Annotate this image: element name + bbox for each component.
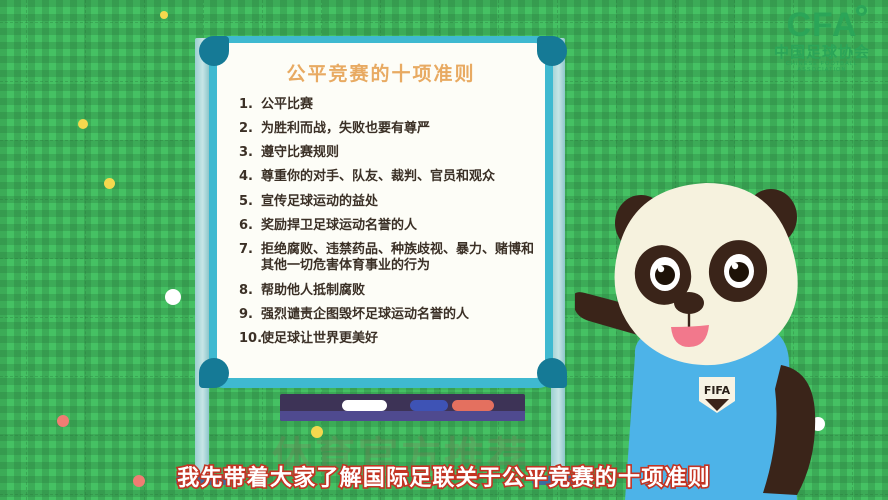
- list-item-label: 拒绝腐败、违禁药品、种族歧视、暴力、赌博和其他一切危害体育事业的行为: [261, 242, 545, 275]
- list-item-label: 为胜利而战，失败也要有尊严: [261, 121, 545, 138]
- decorative-dot: [104, 178, 115, 189]
- easel-leg-right: [551, 38, 565, 478]
- grid-line-horizontal: [0, 22, 888, 23]
- board-knob-bottom-left: [199, 358, 229, 388]
- decorative-dot: [165, 289, 181, 305]
- list-item-number: 7.: [239, 242, 261, 275]
- list-item: 8.帮助他人抵制腐败: [239, 283, 545, 300]
- marker-red: [452, 400, 494, 411]
- board-knob-bottom-right: [537, 358, 567, 388]
- whiteboard-surface: 公平竞赛的十项准则 1.公平比赛2.为胜利而战，失败也要有尊严3.遵守比赛规则4…: [217, 43, 545, 378]
- list-item-label: 公平比赛: [261, 97, 545, 114]
- list-item-label: 尊重你的对手、队友、裁判、官员和观众: [261, 169, 545, 186]
- grid-line-vertical: [144, 0, 145, 500]
- cfa-english-name: CHINESE FOOTBALL ASSOCIATION: [768, 62, 876, 73]
- video-frame: CFA 中国足球协会 CHINESE FOOTBALL ASSOCIATION …: [0, 0, 888, 500]
- marker-blue: [410, 400, 448, 411]
- list-item-label: 使足球让世界更美好: [261, 331, 545, 348]
- list-item-number: 8.: [239, 283, 261, 300]
- list-item-label: 奖励捍卫足球运动名誉的人: [261, 218, 545, 235]
- list-item-number: 2.: [239, 121, 261, 138]
- list-item: 7.拒绝腐败、违禁药品、种族歧视、暴力、赌博和其他一切危害体育事业的行为: [239, 242, 545, 275]
- subtitle-caption: 我先带着大家了解国际足联关于公平竞赛的十项准则: [0, 460, 888, 492]
- marker-white: [342, 400, 387, 411]
- list-item-number: 10.: [239, 331, 261, 348]
- list-item-number: 9.: [239, 307, 261, 324]
- easel-leg-left: [195, 38, 209, 478]
- decorative-dot: [57, 415, 69, 427]
- list-item-number: 3.: [239, 145, 261, 162]
- cfa-wordmark-text: CFA: [787, 6, 858, 44]
- list-item: 4.尊重你的对手、队友、裁判、官员和观众: [239, 169, 545, 186]
- list-item-label: 帮助他人抵制腐败: [261, 283, 545, 300]
- panda-eye-glint-left: [658, 266, 664, 272]
- cfa-wordmark: CFA: [787, 8, 858, 42]
- whiteboard: 公平竞赛的十项准则 1.公平比赛2.为胜利而战，失败也要有尊严3.遵守比赛规则4…: [209, 36, 553, 388]
- list-item: 3.遵守比赛规则: [239, 145, 545, 162]
- list-item-label: 宣传足球运动的益处: [261, 194, 545, 211]
- list-item-number: 1.: [239, 97, 261, 114]
- marker-tray: [280, 394, 525, 421]
- grid-line-vertical: [26, 0, 27, 500]
- list-item: 1.公平比赛: [239, 97, 545, 114]
- grid-line-vertical: [85, 0, 86, 500]
- panda-nose: [674, 292, 704, 314]
- list-item: 2.为胜利而战，失败也要有尊严: [239, 121, 545, 138]
- list-item: 6.奖励捍卫足球运动名誉的人: [239, 218, 545, 235]
- panda-eye-glint-right: [732, 263, 738, 269]
- decorative-dot: [78, 119, 88, 129]
- panda-mascot: FIFA: [575, 175, 875, 500]
- list-item-number: 4.: [239, 169, 261, 186]
- fair-play-list: 1.公平比赛2.为胜利而战，失败也要有尊严3.遵守比赛规则4.尊重你的对手、队友…: [239, 97, 545, 347]
- board-knob-top-left: [199, 36, 229, 66]
- list-item-label: 强烈谴责企图毁坏足球运动名誉的人: [261, 307, 545, 324]
- board-knob-top-right: [537, 36, 567, 66]
- fifa-badge-label: FIFA: [704, 384, 731, 397]
- list-item-number: 6.: [239, 218, 261, 235]
- cfa-logo: CFA 中国足球协会 CHINESE FOOTBALL ASSOCIATION: [768, 8, 876, 73]
- list-item: 10.使足球让世界更美好: [239, 331, 545, 348]
- decorative-dot: [160, 11, 168, 19]
- list-item-label: 遵守比赛规则: [261, 145, 545, 162]
- list-item-number: 5.: [239, 194, 261, 211]
- cfa-chinese-name: 中国足球协会: [768, 45, 876, 60]
- list-item: 9.强烈谴责企图毁坏足球运动名誉的人: [239, 307, 545, 324]
- list-item: 5.宣传足球运动的益处: [239, 194, 545, 211]
- board-title: 公平竞赛的十项准则: [217, 59, 545, 86]
- football-icon: [856, 5, 867, 16]
- tray-lip: [280, 411, 525, 421]
